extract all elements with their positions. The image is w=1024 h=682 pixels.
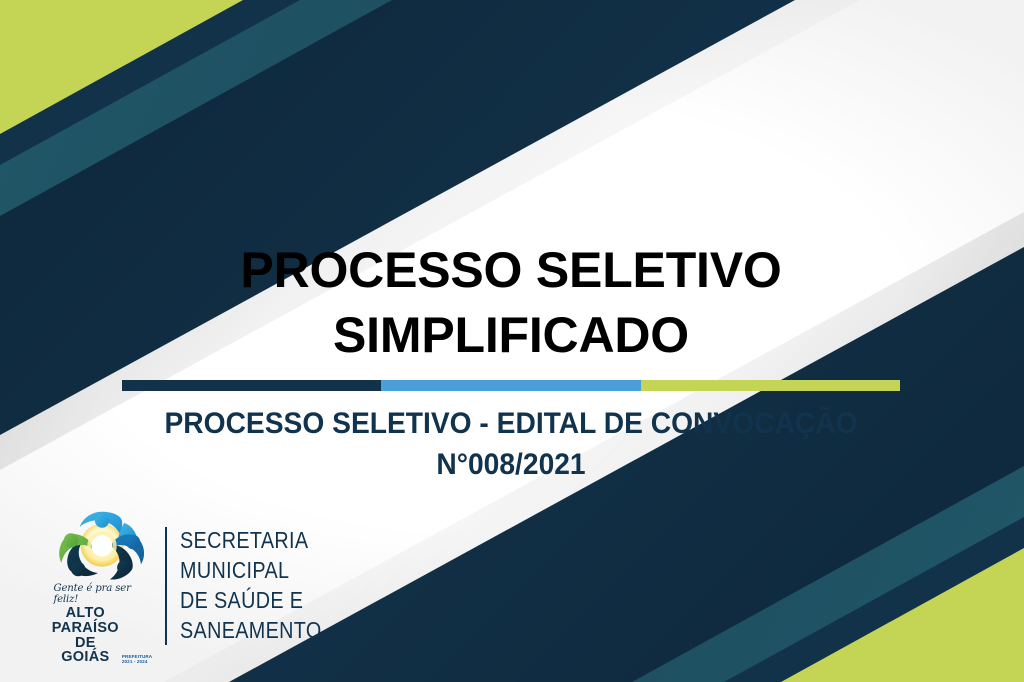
emblem-city-name: ALTO PARAÍSO DE GOIÁS (52, 606, 119, 665)
logo-lockup: Gente é pra ser feliz! ALTO PARAÍSO DE G… (52, 507, 345, 665)
department-name: SECRETARIA MUNICIPAL DE SAÚDE E SANEAMEN… (180, 526, 322, 646)
presentation-slide: PROCESSO SELETIVO SIMPLIFICADO PROCESSO … (0, 0, 1024, 682)
tricolor-divider (122, 380, 900, 391)
emblem-slogan: Gente é pra ser feliz! (54, 583, 151, 604)
municipality-emblem: Gente é pra ser feliz! ALTO PARAÍSO DE G… (52, 507, 152, 665)
slide-title: PROCESSO SELETIVO SIMPLIFICADO (122, 238, 900, 368)
divider-segment-navy (122, 380, 381, 391)
emblem-administration: PREFEITURA 2021 - 2024 (122, 654, 152, 666)
logo-vertical-divider (165, 527, 167, 645)
divider-segment-green (641, 380, 900, 391)
subtitle-block: PROCESSO SELETIVO - EDITAL DE CONVOCAÇÃO… (122, 404, 900, 485)
emblem-name-row: ALTO PARAÍSO DE GOIÁS PREFEITURA 2021 - … (52, 604, 152, 665)
divider-segment-blue (381, 380, 640, 391)
flower-people-icon (54, 507, 150, 585)
slide-subtitle: PROCESSO SELETIVO - EDITAL DE CONVOCAÇÃO… (145, 404, 876, 485)
title-block: PROCESSO SELETIVO SIMPLIFICADO (122, 238, 900, 368)
